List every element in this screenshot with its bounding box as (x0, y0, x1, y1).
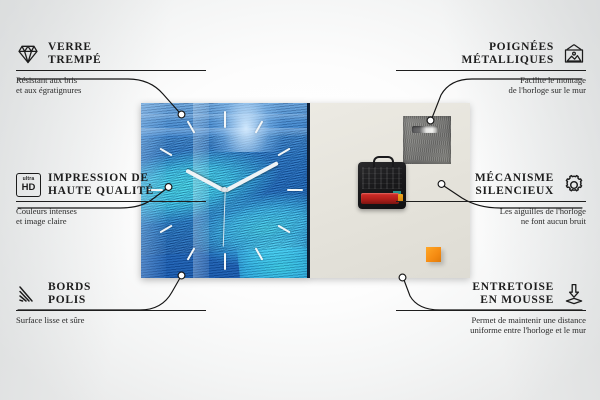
ultra-hd-icon: ultra HD (16, 173, 40, 197)
feature-entretoise-en-mousse: ENTRETOISE EN MOUSSE Permet de maintenir… (396, 281, 586, 336)
polished-edges-icon (16, 282, 40, 306)
feature-title: IMPRESSION DE HAUTE QUALITÉ (48, 172, 154, 197)
ultra-hd-big-label: HD (22, 183, 36, 193)
gear-icon (562, 173, 586, 197)
feature-title: VERRE TREMPÉ (48, 41, 101, 66)
foam-spacer (426, 247, 441, 262)
feature-description: Couleurs intenses et image claire (16, 206, 206, 227)
battery (361, 193, 399, 204)
infographic-canvas: VERRE TREMPÉ Résistant aux bris et aux é… (0, 0, 600, 400)
clock-center-cap (222, 187, 227, 192)
diamond-icon (16, 42, 40, 66)
feature-bords-polis: BORDS POLIS Surface lisse et sûre (16, 281, 206, 325)
arrow-down-stack-icon (562, 282, 586, 306)
ultra-hd-small-label: ultra (23, 177, 35, 182)
feature-poignees-metalliques: POIGNÉES MÉTALLIQUES Facilite le montage… (396, 41, 586, 96)
metal-hanger-plate (403, 116, 451, 164)
divider (16, 70, 206, 71)
divider (16, 310, 206, 311)
feature-title: MÉCANISME SILENCIEUX (475, 172, 554, 197)
feature-title: ENTRETOISE EN MOUSSE (472, 281, 554, 306)
feature-description: Résistant aux bris et aux égratignures (16, 75, 206, 96)
feature-description: Permet de maintenir une distance uniform… (396, 315, 586, 336)
feature-description: Surface lisse et sûre (16, 315, 206, 325)
divider (396, 70, 586, 71)
feature-mecanisme-silencieux: MÉCANISME SILENCIEUX Les aiguilles de l'… (396, 172, 586, 227)
feature-description: Facilite le montage de l'horloge sur le … (396, 75, 586, 96)
feature-verre-trempe: VERRE TREMPÉ Résistant aux bris et aux é… (16, 41, 206, 96)
feature-impression-haute-qualite: ultra HD IMPRESSION DE HAUTE QUALITÉ Cou… (16, 172, 206, 227)
feature-description: Les aiguilles de l'horloge ne font aucun… (396, 206, 586, 227)
divider (16, 201, 206, 202)
divider (396, 201, 586, 202)
wall-mount-frame-icon (562, 42, 586, 66)
divider (396, 310, 586, 311)
feature-title: POIGNÉES MÉTALLIQUES (462, 41, 554, 66)
feature-title: BORDS POLIS (48, 281, 91, 306)
